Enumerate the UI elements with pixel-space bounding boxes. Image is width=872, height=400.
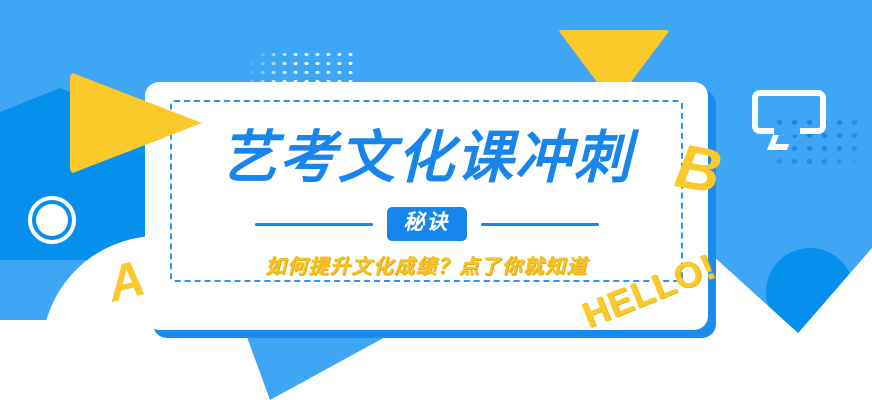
speech-bubble-tail-cover [774,126,800,135]
divider-line-left [255,223,373,226]
dot-grid-icon-white [246,50,356,84]
status-badge: 秘诀 [387,207,467,241]
banner-subtitle: 如何提升文化成绩？点了你就知道 [145,250,708,279]
banner-title: 艺考文化课冲刺 [145,112,708,194]
promo-banner: 艺考文化课冲刺 秘诀 如何提升文化成绩？点了你就知道 A B HELLO! [0,0,872,400]
divider-line-right [481,223,599,226]
badge-divider-row: 秘诀 [145,207,708,241]
circle-ring-fill [36,204,68,236]
